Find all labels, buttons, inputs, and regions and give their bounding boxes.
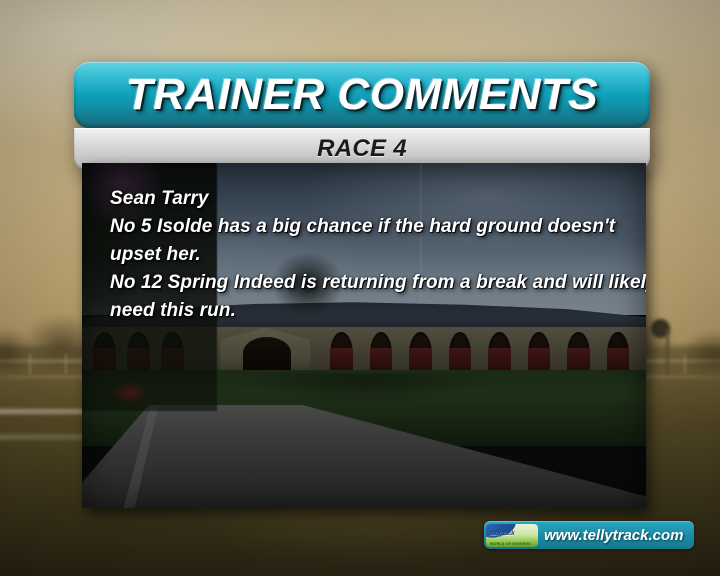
trainer-comment-block: Sean Tarry No 5 Isolde has a big chance …	[110, 185, 620, 325]
comment-photo-panel: Sean Tarry No 5 Isolde has a big chance …	[82, 163, 646, 508]
title-bar: TRAINER COMMENTS	[74, 62, 650, 128]
logo-wordmark: tellytrack	[490, 531, 514, 537]
comment-line: No 5 Isolde has a big chance if the hard…	[110, 213, 620, 241]
comment-line: No 12 Spring Indeed is returning from a …	[110, 269, 620, 297]
broadcast-graphic-screen: RACE 4 TRAINER COMMENTS	[0, 0, 720, 576]
logo-tagline: WORLD OF WINNERS	[490, 542, 531, 546]
page-title: TRAINER COMMENTS	[74, 62, 650, 128]
header-panel: RACE 4 TRAINER COMMENTS	[74, 62, 650, 170]
comment-line: upset her.	[110, 241, 620, 269]
watermark-url: www.tellytrack.com	[544, 527, 684, 544]
tellytrack-logo-icon: tellytrack WORLD OF WINNERS	[486, 524, 538, 547]
comment-line-trainer-name: Sean Tarry	[110, 185, 620, 213]
comment-line: need this run.	[110, 297, 620, 325]
tellytrack-watermark[interactable]: tellytrack WORLD OF WINNERS www.tellytra…	[484, 521, 694, 549]
